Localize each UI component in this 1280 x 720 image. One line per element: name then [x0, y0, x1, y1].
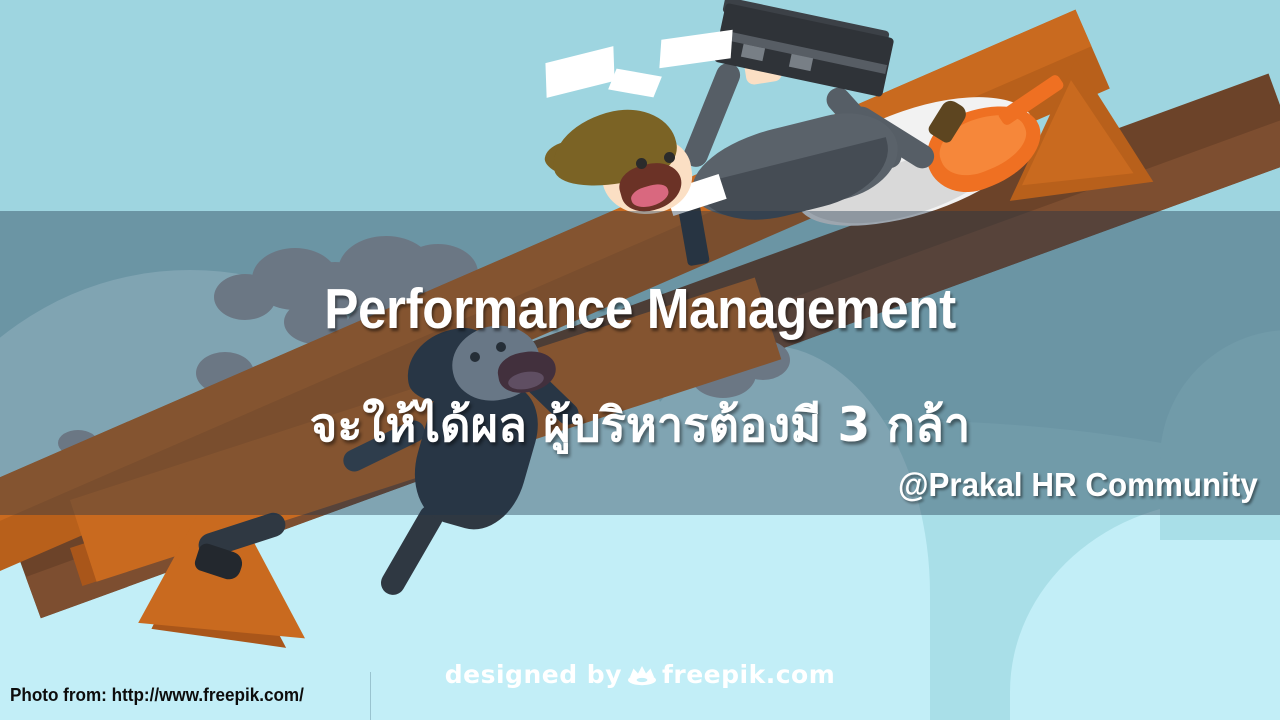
flying-man-eye-left	[636, 158, 647, 169]
slide-canvas: Performance Management จะให้ได้ผล ผู้บริ…	[0, 0, 1280, 720]
photo-source-caption: Photo from: http://www.freepik.com/	[10, 685, 304, 706]
page-subtitle: จะให้ได้ผล ผู้บริหารต้องมี 3 กล้า	[0, 387, 1280, 462]
caption-divider	[370, 672, 371, 720]
freepik-watermark-prefix: designed by	[445, 660, 622, 689]
flying-man-eye-right	[664, 152, 675, 163]
page-title: Performance Management	[64, 276, 1216, 342]
author-credit: @Prakal HR Community	[898, 466, 1258, 504]
freepik-watermark-suffix: freepik.com	[662, 660, 835, 689]
freepik-crown-icon	[627, 663, 657, 685]
